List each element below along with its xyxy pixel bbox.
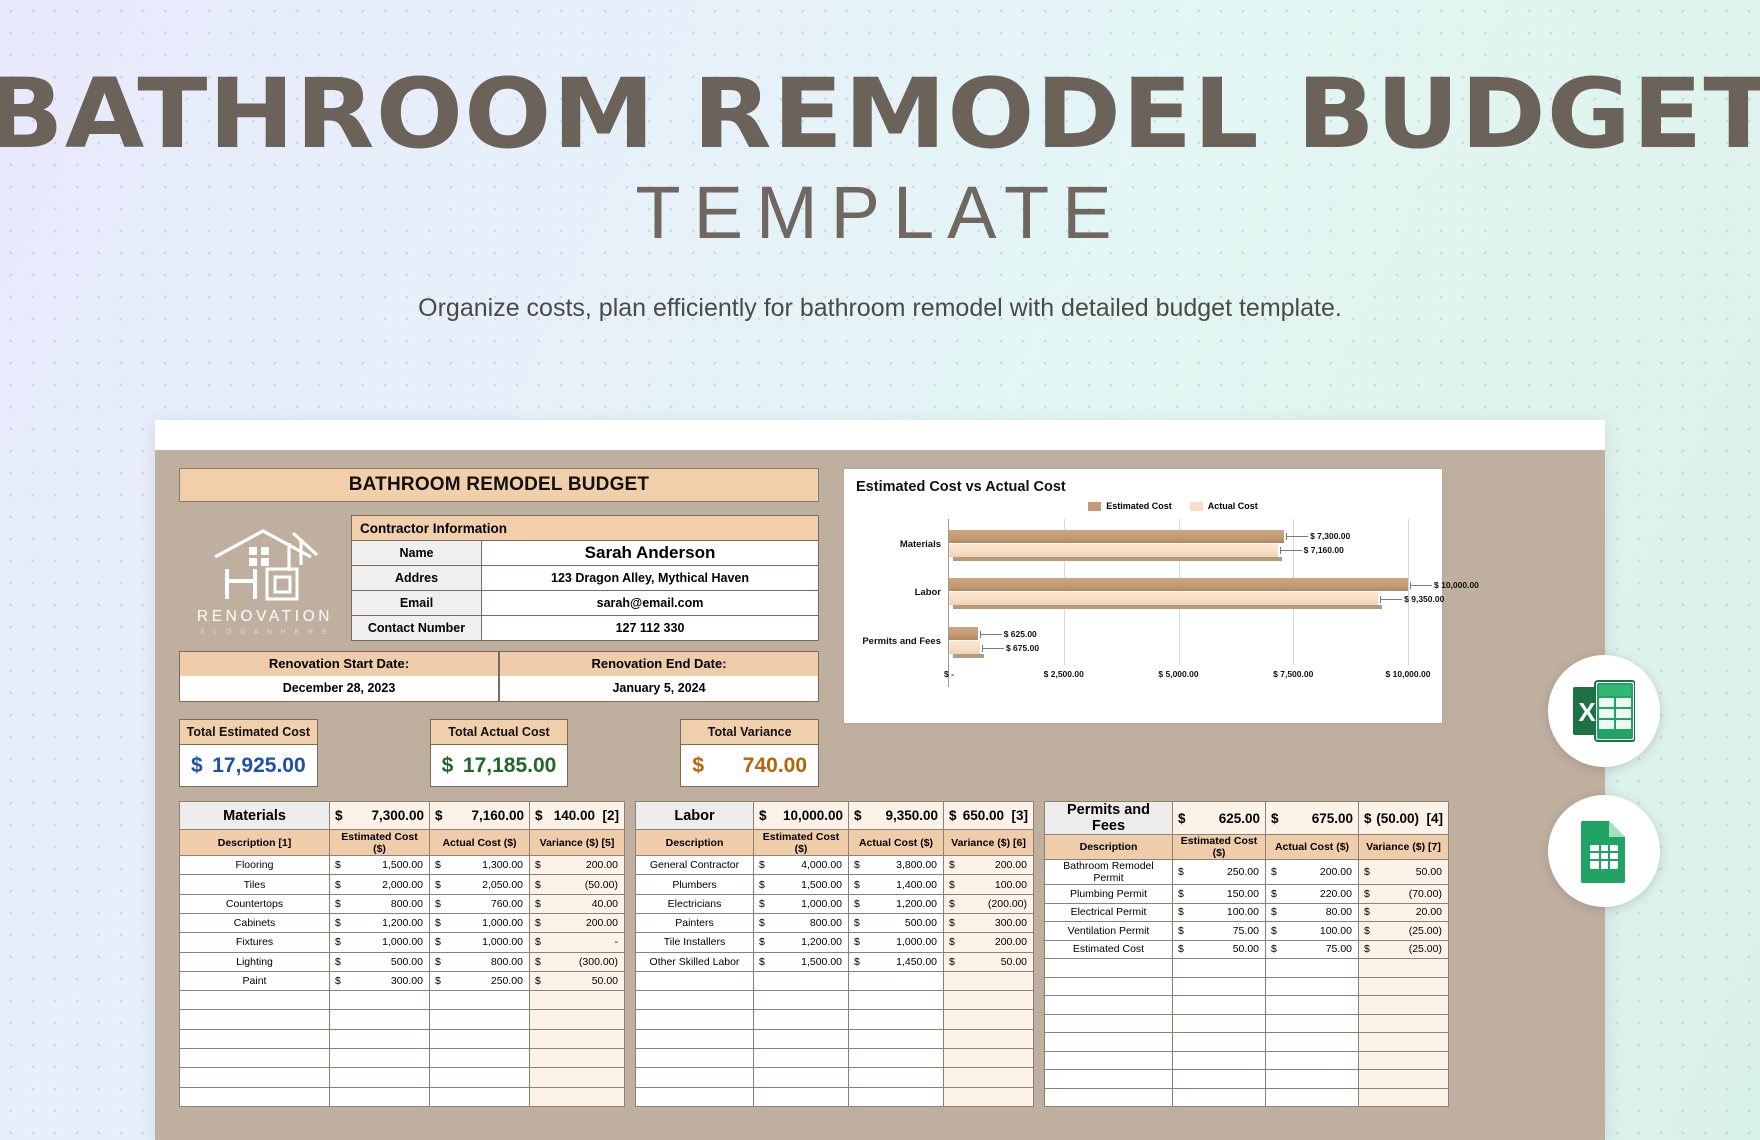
row-variance[interactable] — [1359, 959, 1449, 978]
row-actual-cost[interactable] — [430, 1087, 530, 1106]
legend-swatch-estimated-icon — [1088, 502, 1101, 511]
row-estimated-cost[interactable]: $150.00 — [1173, 885, 1266, 904]
chart-data-label: $ 7,300.00 — [1284, 531, 1350, 541]
table-row-empty[interactable] — [180, 1029, 625, 1048]
total-variance-value: $ 740.00 — [680, 745, 819, 787]
table-row[interactable]: Estimated Cost$50.00$75.00$(25.00) — [1045, 940, 1449, 959]
chart-x-axis: $ -$ 2,500.00$ 5,000.00$ 7,500.00$ 10,00… — [949, 667, 1408, 687]
table-row[interactable]: Ventilation Permit$75.00$100.00$(25.00) — [1045, 922, 1449, 941]
row-estimated-cost[interactable]: $1,500.00 — [330, 856, 430, 875]
row-variance[interactable]: $- — [530, 933, 625, 952]
row-estimated-cost[interactable] — [330, 1087, 430, 1106]
column-header: Description — [1045, 835, 1173, 860]
row-actual-cost[interactable] — [849, 1049, 944, 1068]
table-category-header: Permits and Fees$625.00$675.00$(50.00) [… — [1045, 802, 1449, 835]
row-description[interactable]: Other Skilled Labor — [636, 952, 754, 971]
table-row[interactable]: Fixtures$1,000.00$1,000.00$- — [180, 933, 625, 952]
row-variance[interactable] — [944, 1010, 1034, 1029]
row-actual-cost[interactable] — [849, 1068, 944, 1087]
totals-summary: Total Estimated Cost $ 17,925.00 Total A… — [179, 719, 819, 787]
currency-symbol: $ — [442, 754, 454, 778]
chart-bar-shadow — [953, 605, 1382, 609]
table-row[interactable]: Electrical Permit$100.00$80.00$20.00 — [1045, 903, 1449, 922]
row-actual-cost[interactable] — [1266, 1070, 1359, 1089]
chart-x-tick-label: $ - — [944, 669, 954, 679]
table-row[interactable]: Countertops$800.00$760.00$40.00 — [180, 894, 625, 913]
row-description[interactable] — [180, 1010, 330, 1029]
row-actual-cost[interactable]: $220.00 — [1266, 885, 1359, 904]
row-actual-cost[interactable] — [1266, 1088, 1359, 1107]
chart-data-label: $ 625.00 — [978, 629, 1037, 639]
row-actual-cost[interactable] — [1266, 1033, 1359, 1052]
row-description[interactable] — [636, 991, 754, 1010]
row-actual-cost[interactable]: $1,000.00 — [430, 914, 530, 933]
chart-category-label: Materials — [900, 539, 941, 550]
chart-bar-estimated: $ 10,000.00 — [949, 578, 1408, 591]
row-estimated-cost[interactable]: $1,500.00 — [754, 875, 849, 894]
total-actual-cost-value: $ 17,185.00 — [430, 745, 569, 787]
row-actual-cost[interactable]: $1,000.00 — [430, 933, 530, 952]
svg-text:X: X — [1578, 697, 1596, 727]
start-date-value[interactable]: December 28, 2023 — [180, 676, 498, 701]
contractor-contact-value[interactable]: 127 112 330 — [482, 616, 819, 641]
row-actual-cost[interactable]: $250.00 — [430, 971, 530, 990]
chart-legend: Estimated Cost Actual Cost — [916, 501, 1430, 511]
renovation-start-date: Renovation Start Date: December 28, 2023 — [179, 651, 499, 702]
row-actual-cost[interactable] — [849, 971, 944, 990]
row-description[interactable] — [1045, 996, 1173, 1015]
column-header: Estimated Cost ($) — [1173, 835, 1266, 860]
row-description[interactable]: Lighting — [180, 952, 330, 971]
row-description[interactable]: Countertops — [180, 894, 330, 913]
table-row[interactable]: Cabinets$1,200.00$1,000.00$200.00 — [180, 914, 625, 933]
row-variance[interactable] — [1359, 1088, 1449, 1107]
column-header: Description — [636, 830, 754, 856]
row-actual-cost[interactable]: $1,000.00 — [849, 933, 944, 952]
table-row-empty[interactable] — [636, 1010, 1034, 1029]
table-row[interactable]: Plumbing Permit$150.00$220.00$(70.00) — [1045, 885, 1449, 904]
budget-tables: Materials$7,300.00$7,160.00$140.00 [2]De… — [179, 801, 1581, 1107]
contractor-address-label: Addres — [352, 566, 482, 591]
table-row-empty[interactable] — [1045, 1014, 1449, 1033]
total-estimated-cost-card: Total Estimated Cost $ 17,925.00 — [179, 719, 318, 787]
row-variance[interactable] — [1359, 1014, 1449, 1033]
row-actual-cost[interactable]: $2,050.00 — [430, 875, 530, 894]
row-variance[interactable]: $200.00 — [944, 933, 1034, 952]
end-date-value[interactable]: January 5, 2024 — [500, 676, 818, 701]
row-variance[interactable]: $(25.00) — [1359, 940, 1449, 959]
row-variance[interactable] — [944, 1087, 1034, 1106]
row-description[interactable] — [636, 1010, 754, 1029]
category-total-estimated: $625.00 — [1173, 802, 1266, 835]
spreadsheet-preview: BATHROOM REMODEL BUDGET — [155, 420, 1605, 1140]
category-name: Materials — [180, 802, 330, 830]
row-actual-cost[interactable]: $800.00 — [430, 952, 530, 971]
row-estimated-cost[interactable]: $250.00 — [1173, 860, 1266, 885]
row-description[interactable]: Ventilation Permit — [1045, 922, 1173, 941]
row-variance[interactable]: $300.00 — [944, 914, 1034, 933]
budget-table-materials: Materials$7,300.00$7,160.00$140.00 [2]De… — [179, 801, 625, 1107]
row-description[interactable] — [180, 1029, 330, 1048]
contractor-address-value[interactable]: 123 Dragon Alley, Mythical Haven — [482, 566, 819, 591]
total-actual-cost-number: 17,185.00 — [463, 754, 556, 778]
currency-symbol: $ — [191, 754, 203, 778]
row-estimated-cost[interactable] — [1173, 996, 1266, 1015]
chart-title: Estimated Cost vs Actual Cost — [856, 479, 1430, 495]
row-estimated-cost[interactable] — [1173, 1033, 1266, 1052]
row-variance[interactable] — [530, 1049, 625, 1068]
row-description[interactable]: Paint — [180, 971, 330, 990]
chart-x-tick-label: $ 7,500.00 — [1273, 669, 1313, 679]
table-row-empty[interactable] — [180, 1010, 625, 1029]
chart-category-label: Labor — [915, 587, 941, 598]
row-estimated-cost[interactable]: $1,000.00 — [330, 933, 430, 952]
row-variance[interactable]: $(70.00) — [1359, 885, 1449, 904]
row-description[interactable] — [180, 1068, 330, 1087]
row-actual-cost[interactable] — [1266, 977, 1359, 996]
row-description[interactable]: Flooring — [180, 856, 330, 875]
start-date-label: Renovation Start Date: — [180, 652, 498, 676]
table-row-empty[interactable] — [180, 1049, 625, 1068]
row-estimated-cost[interactable]: $2,000.00 — [330, 875, 430, 894]
row-description[interactable] — [1045, 1051, 1173, 1070]
row-variance[interactable] — [1359, 1033, 1449, 1052]
contractor-name-label: Name — [352, 541, 482, 566]
hero-header: BATHROOM REMODEL BUDGET TEMPLATE Organiz… — [0, 0, 1760, 323]
chart-bar-group: Permits and Fees$ 625.00$ 675.00 — [949, 627, 1408, 654]
row-actual-cost[interactable]: $1,400.00 — [849, 875, 944, 894]
row-variance[interactable] — [530, 1087, 625, 1106]
column-header: Variance ($) [7] — [1359, 835, 1449, 860]
row-actual-cost[interactable] — [849, 1010, 944, 1029]
row-variance[interactable]: $100.00 — [944, 875, 1034, 894]
row-actual-cost[interactable] — [430, 1010, 530, 1029]
column-header: Estimated Cost ($) — [754, 830, 849, 856]
chart-bar-actual: $ 675.00 — [949, 641, 980, 654]
chart-bar-group: Labor$ 10,000.00$ 9,350.00 — [949, 578, 1408, 605]
column-header: Estimated Cost ($) — [330, 830, 430, 856]
row-actual-cost[interactable]: $760.00 — [430, 894, 530, 913]
table-row-empty[interactable] — [636, 1087, 1034, 1106]
chart-data-label: $ 10,000.00 — [1408, 580, 1479, 590]
total-actual-cost-card: Total Actual Cost $ 17,185.00 — [430, 719, 569, 787]
row-actual-cost[interactable] — [849, 1087, 944, 1106]
chart-gridline — [1408, 519, 1409, 665]
legend-item-estimated: Estimated Cost — [1088, 501, 1172, 511]
table-row-empty[interactable] — [1045, 977, 1449, 996]
row-estimated-cost[interactable] — [754, 1029, 849, 1048]
table-row[interactable]: Other Skilled Labor$1,500.00$1,450.00$50… — [636, 952, 1034, 971]
row-actual-cost[interactable] — [1266, 959, 1359, 978]
row-estimated-cost[interactable] — [754, 991, 849, 1010]
row-actual-cost[interactable] — [430, 1029, 530, 1048]
row-estimated-cost[interactable] — [330, 1029, 430, 1048]
currency-symbol: $ — [692, 754, 704, 778]
row-variance[interactable]: $(50.00) — [530, 875, 625, 894]
category-total-estimated: $10,000.00 — [754, 802, 849, 830]
row-description[interactable] — [636, 1068, 754, 1087]
row-description[interactable]: Bathroom Remodel Permit — [1045, 860, 1173, 885]
chart-data-label: $ 9,350.00 — [1378, 594, 1444, 604]
row-actual-cost[interactable] — [849, 1029, 944, 1048]
table-row-empty[interactable] — [180, 1087, 625, 1106]
row-description[interactable]: Plumbing Permit — [1045, 885, 1173, 904]
category-name: Permits and Fees — [1045, 802, 1173, 835]
table-row-empty[interactable] — [636, 991, 1034, 1010]
table-column-headers: DescriptionEstimated Cost ($)Actual Cost… — [1045, 835, 1449, 860]
row-actual-cost[interactable] — [1266, 1014, 1359, 1033]
row-actual-cost[interactable] — [430, 991, 530, 1010]
row-description[interactable] — [1045, 1070, 1173, 1089]
row-actual-cost[interactable]: $80.00 — [1266, 903, 1359, 922]
row-description[interactable] — [180, 1087, 330, 1106]
table-row-empty[interactable] — [636, 1029, 1034, 1048]
row-estimated-cost[interactable] — [1173, 1088, 1266, 1107]
row-estimated-cost[interactable]: $100.00 — [1173, 903, 1266, 922]
row-description[interactable]: Electricians — [636, 894, 754, 913]
row-actual-cost[interactable]: $75.00 — [1266, 940, 1359, 959]
sheet-banner-title: BATHROOM REMODEL BUDGET — [179, 468, 819, 502]
row-estimated-cost[interactable] — [1173, 977, 1266, 996]
chart-bar-actual: $ 7,160.00 — [949, 544, 1278, 557]
category-total-variance: $(50.00) [4] — [1359, 802, 1449, 835]
logo-slogan: S L O G A N H E R E — [200, 629, 330, 636]
chart-bar-shadow — [953, 557, 1282, 561]
row-estimated-cost[interactable]: $1,500.00 — [754, 952, 849, 971]
row-estimated-cost[interactable] — [1173, 1070, 1266, 1089]
row-estimated-cost[interactable] — [330, 1049, 430, 1068]
row-actual-cost[interactable] — [849, 991, 944, 1010]
contractor-email-label: Email — [352, 591, 482, 616]
row-description[interactable] — [636, 971, 754, 990]
table-row-empty[interactable] — [180, 1068, 625, 1087]
total-actual-cost-label: Total Actual Cost — [430, 719, 569, 745]
excel-format-badge[interactable]: X — [1548, 655, 1660, 767]
column-header: Description [1] — [180, 830, 330, 856]
table-row[interactable]: Paint$300.00$250.00$50.00 — [180, 971, 625, 990]
chart-bar-shadow — [953, 654, 984, 658]
row-actual-cost[interactable]: $1,300.00 — [430, 856, 530, 875]
table-row-empty[interactable] — [1045, 996, 1449, 1015]
row-variance[interactable] — [530, 1010, 625, 1029]
column-header: Variance ($) [6] — [944, 830, 1034, 856]
row-estimated-cost[interactable] — [1173, 1014, 1266, 1033]
column-header: Actual Cost ($) — [849, 830, 944, 856]
page-subtitle: TEMPLATE — [0, 174, 1760, 252]
excel-icon: X — [1573, 679, 1635, 743]
legend-label-estimated: Estimated Cost — [1106, 501, 1172, 511]
row-estimated-cost[interactable] — [754, 1049, 849, 1068]
row-variance[interactable] — [944, 991, 1034, 1010]
table-row-empty[interactable] — [1045, 1070, 1449, 1089]
chart-plot-area: $ -$ 2,500.00$ 5,000.00$ 7,500.00$ 10,00… — [948, 519, 1408, 687]
row-variance[interactable] — [530, 1029, 625, 1048]
google-sheets-icon — [1575, 819, 1633, 883]
row-variance[interactable]: $200.00 — [944, 856, 1034, 875]
row-description[interactable]: General Contractor — [636, 856, 754, 875]
table-row-empty[interactable] — [636, 1068, 1034, 1087]
row-estimated-cost[interactable] — [754, 1087, 849, 1106]
category-total-actual: $675.00 — [1266, 802, 1359, 835]
contractor-email-value[interactable]: sarah@email.com — [482, 591, 819, 616]
row-variance[interactable] — [944, 1049, 1034, 1068]
row-estimated-cost[interactable] — [754, 971, 849, 990]
row-description[interactable] — [636, 1029, 754, 1048]
table-row[interactable]: Electricians$1,000.00$1,200.00$(200.00) — [636, 894, 1034, 913]
row-description[interactable]: Cabinets — [180, 914, 330, 933]
row-estimated-cost[interactable] — [330, 991, 430, 1010]
row-variance[interactable] — [944, 1068, 1034, 1087]
table-row-empty[interactable] — [636, 971, 1034, 990]
total-variance-label: Total Variance — [680, 719, 819, 745]
row-actual-cost[interactable]: $200.00 — [1266, 860, 1359, 885]
row-actual-cost[interactable]: $100.00 — [1266, 922, 1359, 941]
row-estimated-cost[interactable]: $4,000.00 — [754, 856, 849, 875]
table-column-headers: Description [1]Estimated Cost ($)Actual … — [180, 830, 625, 856]
row-estimated-cost[interactable] — [754, 1010, 849, 1029]
contractor-info-header: Contractor Information — [352, 516, 819, 541]
row-variance[interactable] — [530, 991, 625, 1010]
row-description[interactable]: Electrical Permit — [1045, 903, 1173, 922]
row-actual-cost[interactable]: $1,200.00 — [849, 894, 944, 913]
category-total-variance: $650.00 [3] — [944, 802, 1034, 830]
row-description[interactable] — [636, 1049, 754, 1068]
row-description[interactable]: Estimated Cost — [1045, 940, 1173, 959]
table-row[interactable]: Bathroom Remodel Permit$250.00$200.00$50… — [1045, 860, 1449, 885]
category-total-estimated: $7,300.00 — [330, 802, 430, 830]
budget-table-permits-and-fees: Permits and Fees$625.00$675.00$(50.00) [… — [1044, 801, 1449, 1107]
column-header: Actual Cost ($) — [1266, 835, 1359, 860]
row-actual-cost[interactable] — [1266, 1051, 1359, 1070]
column-header: Actual Cost ($) — [430, 830, 530, 856]
row-estimated-cost[interactable]: $800.00 — [330, 894, 430, 913]
row-description[interactable] — [1045, 977, 1173, 996]
table-row-empty[interactable] — [1045, 1033, 1449, 1052]
row-actual-cost[interactable]: $3,800.00 — [849, 856, 944, 875]
row-description[interactable]: Plumbers — [636, 875, 754, 894]
row-description[interactable] — [1045, 959, 1173, 978]
row-variance[interactable] — [1359, 1070, 1449, 1089]
row-estimated-cost[interactable]: $1,200.00 — [754, 933, 849, 952]
row-variance[interactable]: $(300.00) — [530, 952, 625, 971]
row-estimated-cost[interactable]: $75.00 — [1173, 922, 1266, 941]
row-variance[interactable]: $50.00 — [530, 971, 625, 990]
row-estimated-cost[interactable]: $800.00 — [754, 914, 849, 933]
category-total-actual: $7,160.00 — [430, 802, 530, 830]
table-row[interactable]: Lighting$500.00$800.00$(300.00) — [180, 952, 625, 971]
row-actual-cost[interactable] — [430, 1068, 530, 1087]
row-estimated-cost[interactable]: $50.00 — [1173, 940, 1266, 959]
table-row[interactable]: Tile Installers$1,200.00$1,000.00$200.00 — [636, 933, 1034, 952]
row-actual-cost[interactable] — [1266, 996, 1359, 1015]
row-estimated-cost[interactable]: $1,000.00 — [754, 894, 849, 913]
row-variance[interactable]: $(200.00) — [944, 894, 1034, 913]
row-estimated-cost[interactable] — [1173, 959, 1266, 978]
google-sheets-format-badge[interactable] — [1548, 795, 1660, 907]
chart-bar-group: Materials$ 7,300.00$ 7,160.00 — [949, 530, 1408, 557]
row-description[interactable] — [1045, 1088, 1173, 1107]
row-actual-cost[interactable] — [430, 1049, 530, 1068]
table-row[interactable]: General Contractor$4,000.00$3,800.00$200… — [636, 856, 1034, 875]
legend-label-actual: Actual Cost — [1208, 501, 1258, 511]
contractor-name-value[interactable]: Sarah Anderson — [482, 541, 819, 566]
table-row-empty[interactable] — [636, 1049, 1034, 1068]
house-logo-icon — [205, 525, 325, 603]
total-estimated-cost-value: $ 17,925.00 — [179, 745, 318, 787]
table-row-empty[interactable] — [180, 991, 625, 1010]
table-row-empty[interactable] — [1045, 959, 1449, 978]
row-variance[interactable]: $20.00 — [1359, 903, 1449, 922]
row-variance[interactable] — [1359, 996, 1449, 1015]
row-variance[interactable]: $(25.00) — [1359, 922, 1449, 941]
chart-category-label: Permits and Fees — [862, 636, 941, 647]
row-description[interactable]: Tiles — [180, 875, 330, 894]
row-estimated-cost[interactable]: $1,200.00 — [330, 914, 430, 933]
row-estimated-cost[interactable]: $300.00 — [330, 971, 430, 990]
row-estimated-cost[interactable] — [1173, 1051, 1266, 1070]
chart-x-tick-label: $ 2,500.00 — [1044, 669, 1084, 679]
row-variance[interactable]: $200.00 — [530, 856, 625, 875]
category-total-variance: $140.00 [2] — [530, 802, 625, 830]
row-description[interactable] — [1045, 1033, 1173, 1052]
table-row[interactable]: Painters$800.00$500.00$300.00 — [636, 914, 1034, 933]
table-category-header: Labor$10,000.00$9,350.00$650.00 [3] — [636, 802, 1034, 830]
spreadsheet-canvas: BATHROOM REMODEL BUDGET — [155, 450, 1605, 1140]
chart-x-tick-label: $ 5,000.00 — [1158, 669, 1198, 679]
chart-x-tick-label: $ 10,000.00 — [1386, 669, 1431, 679]
row-variance[interactable] — [944, 971, 1034, 990]
row-description[interactable]: Painters — [636, 914, 754, 933]
renovation-logo: RENOVATION S L O G A N H E R E — [179, 515, 351, 641]
row-actual-cost[interactable]: $1,450.00 — [849, 952, 944, 971]
row-description[interactable] — [180, 1049, 330, 1068]
row-variance[interactable] — [944, 1029, 1034, 1048]
row-description[interactable]: Tile Installers — [636, 933, 754, 952]
end-date-label: Renovation End Date: — [500, 652, 818, 676]
contractor-information-table: Contractor Information Name Sarah Anders… — [351, 515, 819, 641]
row-variance[interactable]: $200.00 — [530, 914, 625, 933]
column-header: Variance ($) [5] — [530, 830, 625, 856]
chart-data-label: $ 7,160.00 — [1278, 545, 1344, 555]
row-variance[interactable]: $50.00 — [1359, 860, 1449, 885]
row-variance[interactable] — [530, 1068, 625, 1087]
row-variance[interactable]: $40.00 — [530, 894, 625, 913]
table-column-headers: DescriptionEstimated Cost ($)Actual Cost… — [636, 830, 1034, 856]
chart-data-label: $ 675.00 — [980, 643, 1039, 653]
contractor-contact-label: Contact Number — [352, 616, 482, 641]
table-row[interactable]: Tiles$2,000.00$2,050.00$(50.00) — [180, 875, 625, 894]
row-description[interactable] — [180, 991, 330, 1010]
renovation-dates: Renovation Start Date: December 28, 2023… — [179, 651, 819, 702]
legend-item-actual: Actual Cost — [1190, 501, 1258, 511]
row-estimated-cost[interactable] — [330, 1068, 430, 1087]
row-variance[interactable] — [1359, 977, 1449, 996]
total-estimated-cost-label: Total Estimated Cost — [179, 719, 318, 745]
row-variance[interactable] — [1359, 1051, 1449, 1070]
row-description[interactable] — [636, 1087, 754, 1106]
row-estimated-cost[interactable] — [754, 1068, 849, 1087]
table-row[interactable]: Plumbers$1,500.00$1,400.00$100.00 — [636, 875, 1034, 894]
row-estimated-cost[interactable] — [330, 1010, 430, 1029]
row-variance[interactable]: $50.00 — [944, 952, 1034, 971]
table-row[interactable]: Flooring$1,500.00$1,300.00$200.00 — [180, 856, 625, 875]
table-row-empty[interactable] — [1045, 1051, 1449, 1070]
row-description[interactable]: Fixtures — [180, 933, 330, 952]
table-row-empty[interactable] — [1045, 1088, 1449, 1107]
row-actual-cost[interactable]: $500.00 — [849, 914, 944, 933]
row-description[interactable] — [1045, 1014, 1173, 1033]
row-estimated-cost[interactable]: $500.00 — [330, 952, 430, 971]
